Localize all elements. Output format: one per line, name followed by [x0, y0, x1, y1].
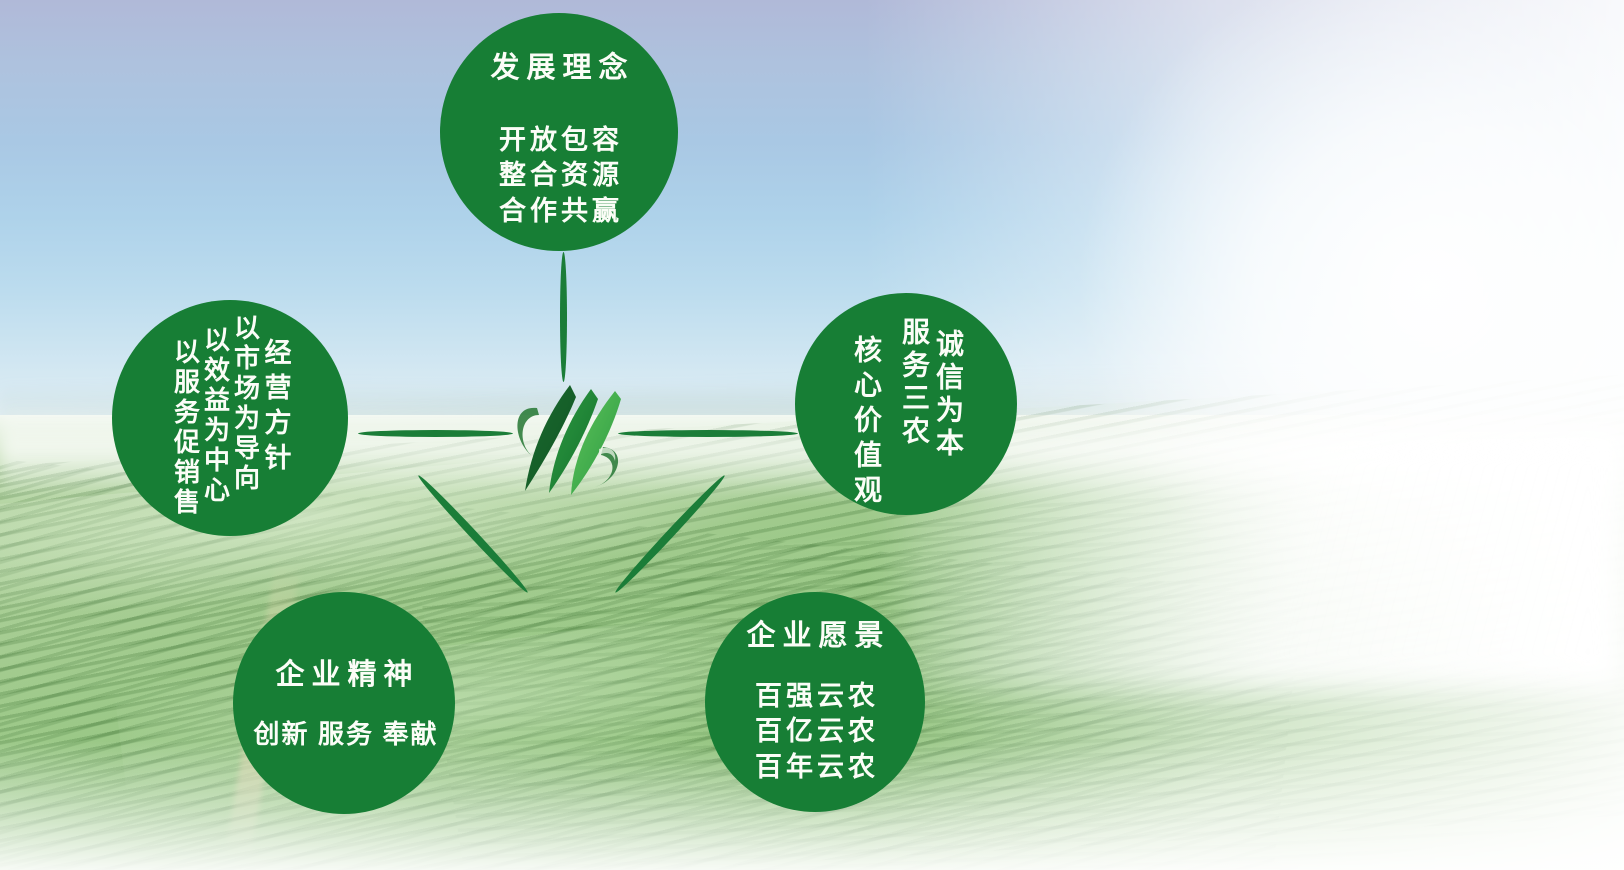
core-values-column-1: 服务三农 [899, 317, 927, 449]
bubble-body-development: 开放包容 整合资源 合作共赢 [495, 123, 623, 230]
vision-line-1: 百强云农 [751, 679, 879, 715]
culture-diagram-canvas: 发展理念 开放包容 整合资源 合作共赢 经营方针 以市场为导向 以效益为中心 以… [0, 0, 1624, 870]
development-line-3: 合作共赢 [495, 194, 623, 230]
bubble-development-philosophy[interactable]: 发展理念 开放包容 整合资源 合作共赢 [440, 13, 678, 251]
bubble-enterprise-spirit[interactable]: 企业精神 创新 服务 奉献 [233, 592, 455, 814]
bubble-management-policy[interactable]: 经营方针 以市场为导向 以效益为中心 以服务促销售 [112, 300, 348, 536]
bubble-title-management-policy: 经营方针 [262, 338, 289, 478]
bubble-title-development: 发展理念 [483, 53, 634, 85]
management-policy-column-2: 以效益为中心 [202, 326, 228, 506]
core-values-column-2: 诚信为本 [933, 329, 961, 461]
management-policy-column-3: 以服务促销售 [172, 338, 198, 518]
spirit-line-1: 创新 服务 奉献 [249, 718, 438, 752]
bubble-enterprise-vision[interactable]: 企业愿景 百强云农 百亿云农 百年云农 [705, 592, 925, 812]
bubble-title-core-values: 核心价值观 [851, 335, 879, 510]
bubble-body-vision: 百强云农 百亿云农 百年云农 [751, 679, 879, 786]
management-policy-column-1: 以市场为导向 [232, 314, 258, 494]
development-line-2: 整合资源 [495, 158, 623, 194]
development-line-1: 开放包容 [495, 123, 623, 159]
bubble-core-values[interactable]: 诚信为本 服务三农 核心价值观 [795, 293, 1017, 515]
yunnong-leaf-logo-icon [487, 363, 647, 503]
bubble-title-vision: 企业愿景 [739, 621, 890, 653]
vision-line-2: 百亿云农 [751, 714, 879, 750]
bubble-title-spirit: 企业精神 [268, 660, 419, 692]
management-policy-columns: 经营方针 以市场为导向 以效益为中心 以服务促销售 [112, 300, 348, 536]
vision-line-3: 百年云农 [751, 750, 879, 786]
bubble-body-spirit: 创新 服务 奉献 [249, 718, 438, 752]
core-values-columns: 诚信为本 服务三农 核心价值观 [795, 293, 1017, 515]
